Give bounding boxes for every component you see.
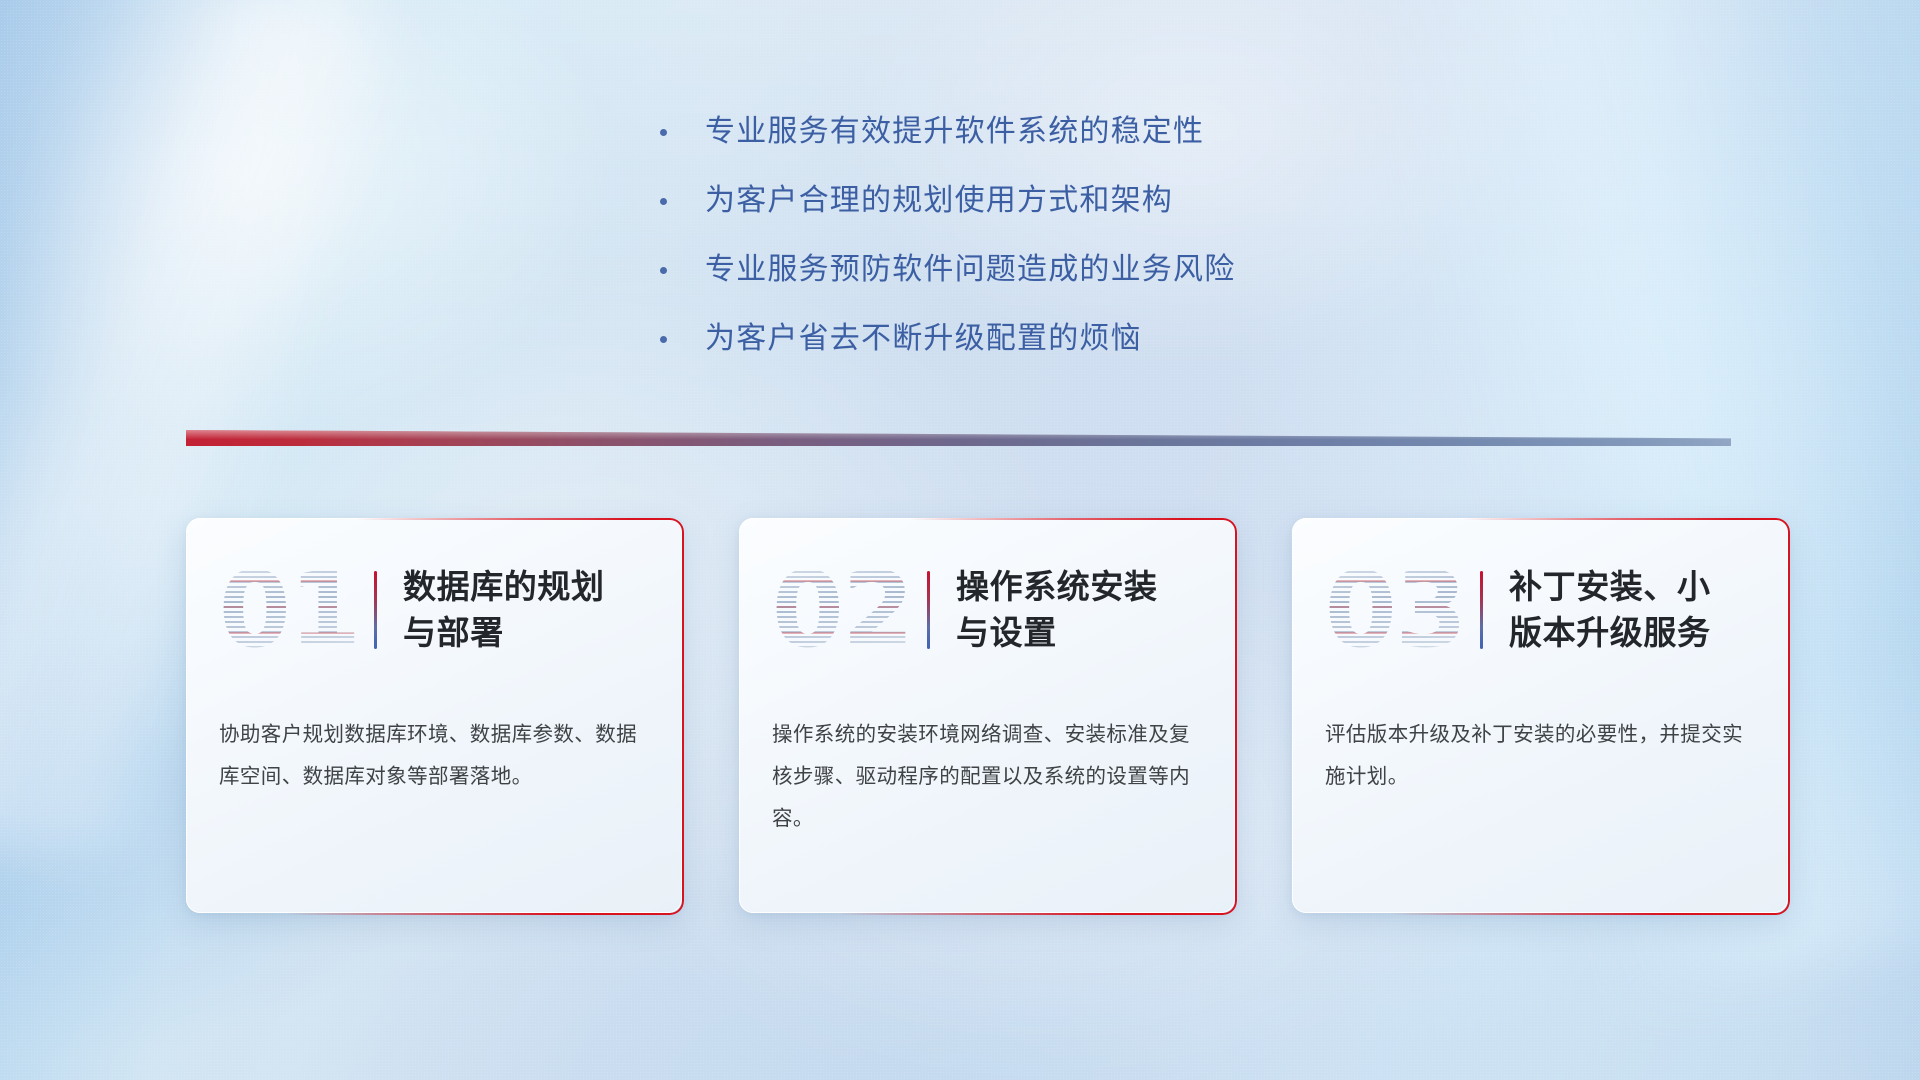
card-number-graphic: 01 01 [214, 554, 364, 666]
service-card-row: 01 01 数据库的规划 与部署 协助客户规划数据库环境、数据库参数、数据库空间… [186, 518, 1788, 913]
card-title-divider-bar [927, 571, 930, 649]
benefits-bullet-list: 专业服务有效提升软件系统的稳定性 为客户合理的规划使用方式和架构 专业服务预防软… [660, 112, 1420, 388]
bullet-item: 专业服务有效提升软件系统的稳定性 [660, 112, 1420, 152]
card-title-divider-bar [1480, 571, 1483, 649]
service-card-03[interactable]: 03 03 补丁安装、小 版本升级服务 评估版本升级及补丁安装的必要性，并提交实… [1292, 518, 1788, 913]
card-header: 02 02 操作系统安装 与设置 [739, 542, 1235, 678]
card-number-glyph-redlines: 01 [214, 554, 364, 666]
bullet-item: 为客户合理的规划使用方式和架构 [660, 181, 1420, 221]
bullet-item: 为客户省去不断升级配置的烦恼 [660, 319, 1420, 359]
divider-gloss [186, 430, 1731, 446]
bullet-dot-icon [660, 267, 667, 274]
bullet-dot-icon [660, 198, 667, 205]
card-number-graphic: 02 02 [767, 554, 917, 666]
card-title: 补丁安装、小 版本升级服务 [1509, 564, 1711, 656]
card-header: 03 03 补丁安装、小 版本升级服务 [1292, 542, 1788, 678]
card-body-text: 协助客户规划数据库环境、数据库参数、数据库空间、数据库对象等部署落地。 [219, 714, 652, 798]
card-title-line-1: 数据库的规划 [403, 564, 605, 610]
card-number-glyph-redlines: 02 [767, 554, 917, 666]
card-title-line-1: 操作系统安装 [956, 564, 1158, 610]
card-number-graphic: 03 03 [1320, 554, 1470, 666]
bullet-text: 专业服务有效提升软件系统的稳定性 [705, 112, 1204, 152]
section-divider [186, 430, 1731, 446]
service-card-01[interactable]: 01 01 数据库的规划 与部署 协助客户规划数据库环境、数据库参数、数据库空间… [186, 518, 682, 913]
card-title-line-1: 补丁安装、小 [1509, 564, 1711, 610]
bullet-item: 专业服务预防软件问题造成的业务风险 [660, 250, 1420, 290]
card-number-glyph-redlines: 03 [1320, 554, 1470, 666]
bullet-text: 为客户合理的规划使用方式和架构 [705, 181, 1173, 221]
card-body-text: 评估版本升级及补丁安装的必要性，并提交实施计划。 [1325, 714, 1758, 798]
card-title-line-2: 版本升级服务 [1509, 610, 1711, 656]
card-header: 01 01 数据库的规划 与部署 [186, 542, 682, 678]
bullet-text: 为客户省去不断升级配置的烦恼 [705, 319, 1142, 359]
card-title-line-2: 与设置 [956, 610, 1158, 656]
bullet-text: 专业服务预防软件问题造成的业务风险 [705, 250, 1235, 290]
bullet-dot-icon [660, 336, 667, 343]
card-body-text: 操作系统的安装环境网络调查、安装标准及复核步骤、驱动程序的配置以及系统的设置等内… [772, 714, 1205, 840]
card-title-line-2: 与部署 [403, 610, 605, 656]
card-title: 数据库的规划 与部署 [403, 564, 605, 656]
card-title-divider-bar [374, 571, 377, 649]
bullet-dot-icon [660, 129, 667, 136]
card-title: 操作系统安装 与设置 [956, 564, 1158, 656]
service-card-02[interactable]: 02 02 操作系统安装 与设置 操作系统的安装环境网络调查、安装标准及复核步骤… [739, 518, 1235, 913]
